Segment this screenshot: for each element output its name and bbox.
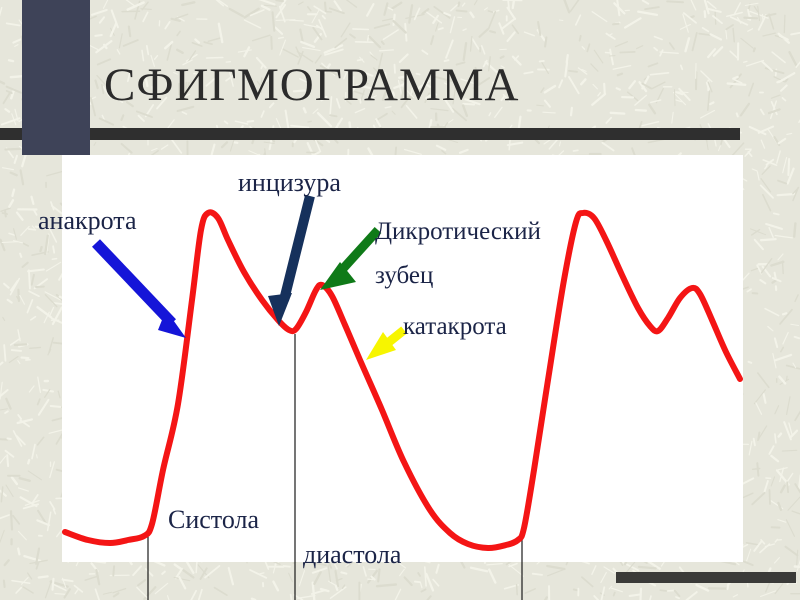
label-katakrota: катакрота [403, 313, 507, 341]
label-dikroticheskiy-zubec-line1: Дикротический [375, 210, 541, 254]
label-sistola: Систола [168, 505, 259, 535]
footer-rule [616, 572, 796, 583]
label-diastola: диастола [303, 540, 401, 570]
label-anakrota: анакрота [38, 206, 137, 236]
title-rule [0, 128, 740, 140]
label-dikroticheskiy-zubec: Дикротический зубец [375, 210, 541, 298]
label-incizura: инцизура [238, 168, 341, 198]
accent-vertical-bar [22, 0, 90, 155]
label-dikroticheskiy-zubec-line2: зубец [375, 254, 541, 298]
slide-canvas: СФИГМОГРАММА [0, 0, 800, 600]
page-title: СФИГМОГРАММА [104, 58, 519, 112]
